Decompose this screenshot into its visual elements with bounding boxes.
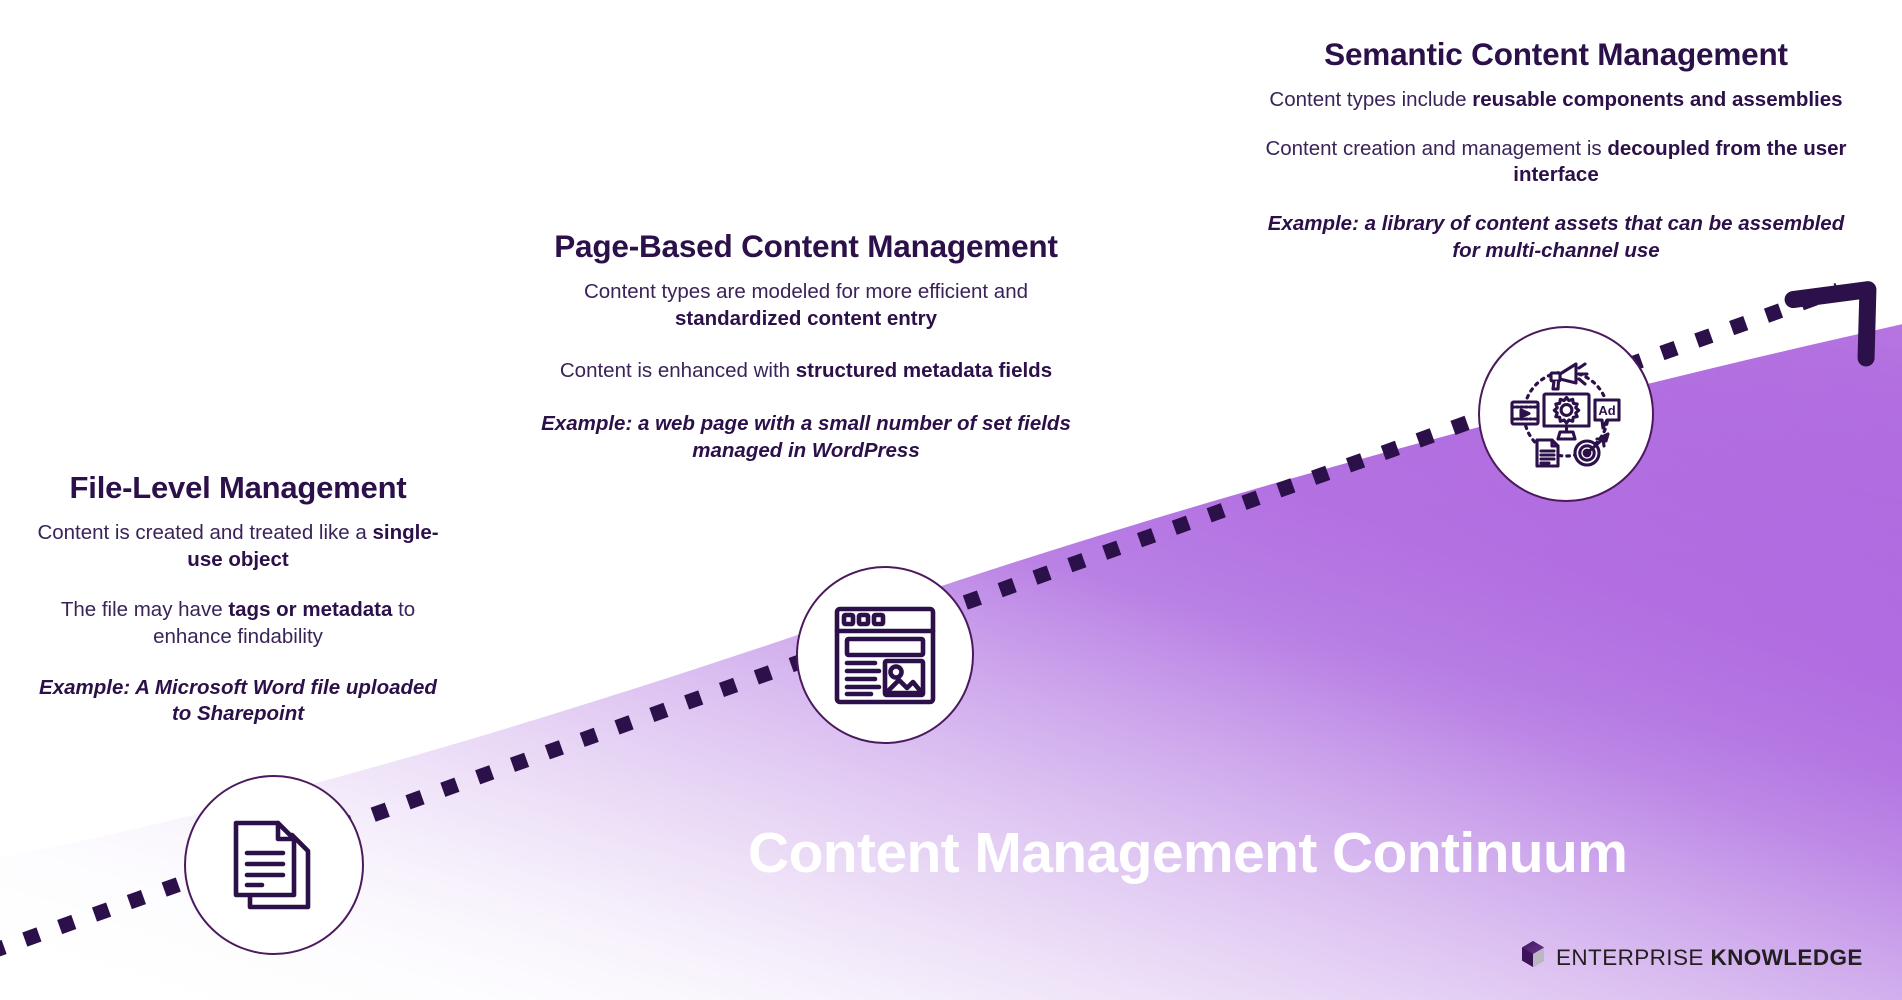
stage-1-point-1-text-a: Content is created and treated like a <box>37 521 372 544</box>
stage-2-point-1: Content types are modeled for more effic… <box>526 279 1086 332</box>
page-title: Content Management Continuum <box>748 820 1878 886</box>
stage-file-level: File-Level Management Content is created… <box>28 470 448 728</box>
stage-3-heading: Semantic Content Management <box>1256 36 1856 73</box>
stage-semantic: Semantic Content Management Content type… <box>1256 36 1856 264</box>
stage-3-icon-circle: Ad <box>1478 326 1654 502</box>
stage-1-heading: File-Level Management <box>28 470 448 506</box>
stage-1-point-2-bold: tags or metadata <box>228 598 392 621</box>
stage-2-icon-circle <box>796 566 974 744</box>
stage-3-point-1-bold: reusable components and assemblies <box>1472 88 1842 111</box>
stage-3-example: Example: a library of content assets tha… <box>1256 211 1856 264</box>
hexagon-cube-icon <box>1516 938 1550 977</box>
logo-word-enterprise: ENTERPRISE <box>1556 945 1704 970</box>
stage-2-point-2-text-a: Content is enhanced with <box>560 359 796 382</box>
stage-3-point-1-text-a: Content types include <box>1269 88 1472 111</box>
stage-2-heading: Page-Based Content Management <box>526 228 1086 265</box>
stage-2-point-1-bold: standardized content entry <box>675 307 937 330</box>
svg-text:Ad: Ad <box>1598 403 1615 418</box>
stage-2-point-2: Content is enhanced with structured meta… <box>526 358 1086 385</box>
stage-1-example: Example: A Microsoft Word file uploaded … <box>28 675 448 728</box>
stage-2-point-1-text-a: Content types are modeled for more effic… <box>584 280 1028 303</box>
stage-1-point-1: Content is created and treated like a si… <box>28 520 448 573</box>
document-stack-icon <box>222 813 326 917</box>
stage-2-point-2-bold: structured metadata fields <box>796 359 1052 382</box>
brand-logo: ENTERPRISE KNOWLEDGE <box>1516 938 1863 977</box>
stage-1-point-2: The file may have tags or metadata to en… <box>28 597 448 650</box>
multichannel-content-hub-icon: Ad <box>1503 352 1629 476</box>
logo-wordmark: ENTERPRISE KNOWLEDGE <box>1556 945 1863 971</box>
stage-page-based: Page-Based Content Management Content ty… <box>526 228 1086 464</box>
stage-3-point-2-text-a: Content creation and management is <box>1265 137 1607 160</box>
infographic-canvas: File-Level Management Content is created… <box>0 0 1902 1000</box>
logo-word-knowledge: KNOWLEDGE <box>1710 945 1862 970</box>
stage-3-point-2: Content creation and management is decou… <box>1256 136 1856 189</box>
stage-1-point-2-text-a: The file may have <box>61 598 229 621</box>
web-page-layout-icon <box>831 603 939 708</box>
stage-3-point-1: Content types include reusable component… <box>1256 87 1856 114</box>
stage-1-icon-circle <box>184 775 364 955</box>
stage-2-example: Example: a web page with a small number … <box>526 411 1086 464</box>
